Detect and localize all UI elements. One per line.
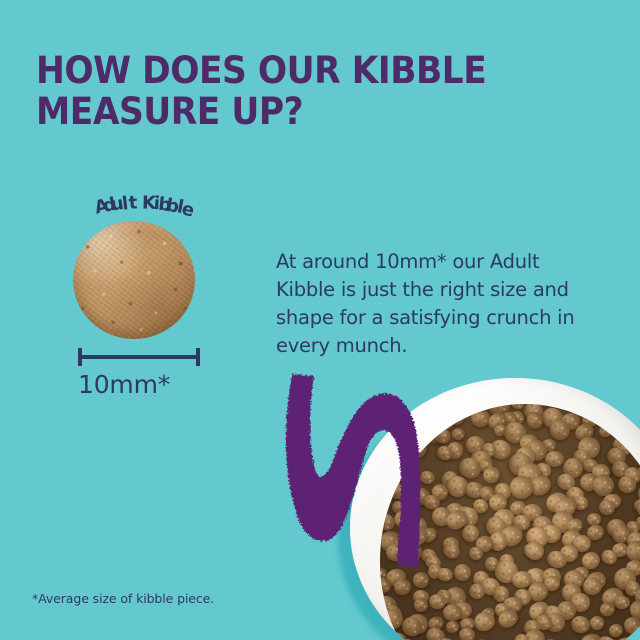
kibble-piece [453,563,471,581]
measure-bar-line [78,355,200,359]
kibble-piece [549,420,570,441]
bowl-rim [350,378,640,640]
infographic-canvas: HOW DOES OUR KIBBLE MEASURE UP? Adult Ki… [0,0,640,640]
single-kibble-piece-icon [73,221,195,339]
footnote-text: *Average size of kibble piece. [32,591,214,606]
kibble-piece [393,406,411,423]
kibble-pieces-group [380,404,640,640]
bowl-of-kibble-image [330,368,640,640]
headline-line-1: HOW DOES OUR KIBBLE [36,50,557,91]
kibble-speckle-texture [73,221,195,339]
adult-kibble-label-char: t [128,192,138,214]
kibble-piece [451,427,467,442]
kibble-piece [614,596,630,609]
kibble-piece [458,628,475,640]
page-title: HOW DOES OUR KIBBLE MEASURE UP? [36,50,557,133]
body-paragraph: At around 10mm* our Adult Kibble is just… [276,248,576,360]
kibble-piece [429,594,446,609]
measurement-bar [78,348,200,366]
bowl-interior [380,404,640,640]
kibble-piece [446,621,460,634]
adult-kibble-label: Adult Kibble [72,186,218,216]
measure-bar-right-cap [196,348,200,366]
kibble-piece [560,404,577,412]
kibble-piece [436,566,454,582]
kibble-piece [419,469,437,485]
kibble-piece [390,482,408,500]
headline-line-2: MEASURE UP? [36,91,557,132]
kibble-piece [409,404,427,405]
kibble-piece [382,609,403,629]
measure-value-label: 10mm* [78,370,228,399]
kibble-piece [623,616,640,636]
kibble-piece [598,425,613,438]
